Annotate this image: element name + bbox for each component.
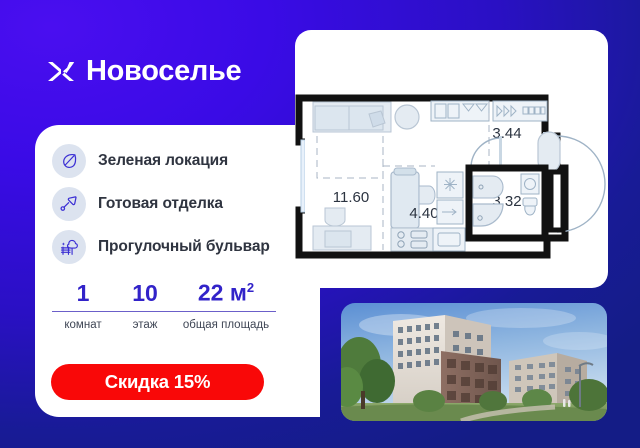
room-area-hallway: 3.44 — [492, 125, 521, 142]
room-area-living: 11.60 — [333, 189, 369, 206]
feature-item-finished-renovation[interactable]: Готовая отделка — [52, 187, 292, 221]
building-render-image — [341, 303, 607, 421]
stat-value-area: 22 м2 — [176, 281, 276, 311]
floor-plan[interactable]: 11.60 4.40 — [295, 90, 608, 265]
stat-label-floor: этаж — [114, 319, 176, 333]
feature-item-green-location[interactable]: Зеленая локация — [52, 144, 292, 178]
feature-label: Готовая отделка — [98, 196, 223, 213]
leaf-icon — [52, 144, 86, 178]
brand-name: Новоселье — [86, 57, 241, 86]
trowel-icon — [52, 187, 86, 221]
stat-value-area-number: 22 м — [198, 280, 247, 306]
park-bench-tree-icon — [52, 230, 86, 264]
promo-card-root: Новоселье Зеленая локация Г — [0, 0, 640, 448]
brand-logo[interactable]: Новоселье — [46, 57, 241, 86]
stats-labels-row: комнат этаж общая площадь — [52, 312, 276, 333]
stat-value-floor: 10 — [114, 282, 176, 311]
stat-value-area-superscript: 2 — [247, 280, 254, 295]
feature-label: Прогулочный бульвар — [98, 239, 270, 256]
stat-label-rooms: комнат — [52, 319, 114, 333]
feature-list: Зеленая локация Готовая отделка — [52, 144, 292, 273]
stat-label-area: общая площадь — [176, 319, 276, 333]
stat-value-rooms: 1 — [52, 282, 114, 311]
room-area-kitchen: 4.40 — [409, 205, 438, 222]
x-mark-icon — [46, 59, 76, 85]
discount-button[interactable]: Скидка 15% — [51, 364, 264, 400]
brand-header: Новоселье — [0, 0, 330, 128]
feature-label: Зеленая локация — [98, 153, 228, 170]
apartment-stats: 1 10 22 м2 комнат этаж общая площадь — [52, 281, 276, 333]
stats-values-row: 1 10 22 м2 — [52, 281, 276, 311]
feature-item-boulevard[interactable]: Прогулочный бульвар — [52, 230, 292, 264]
